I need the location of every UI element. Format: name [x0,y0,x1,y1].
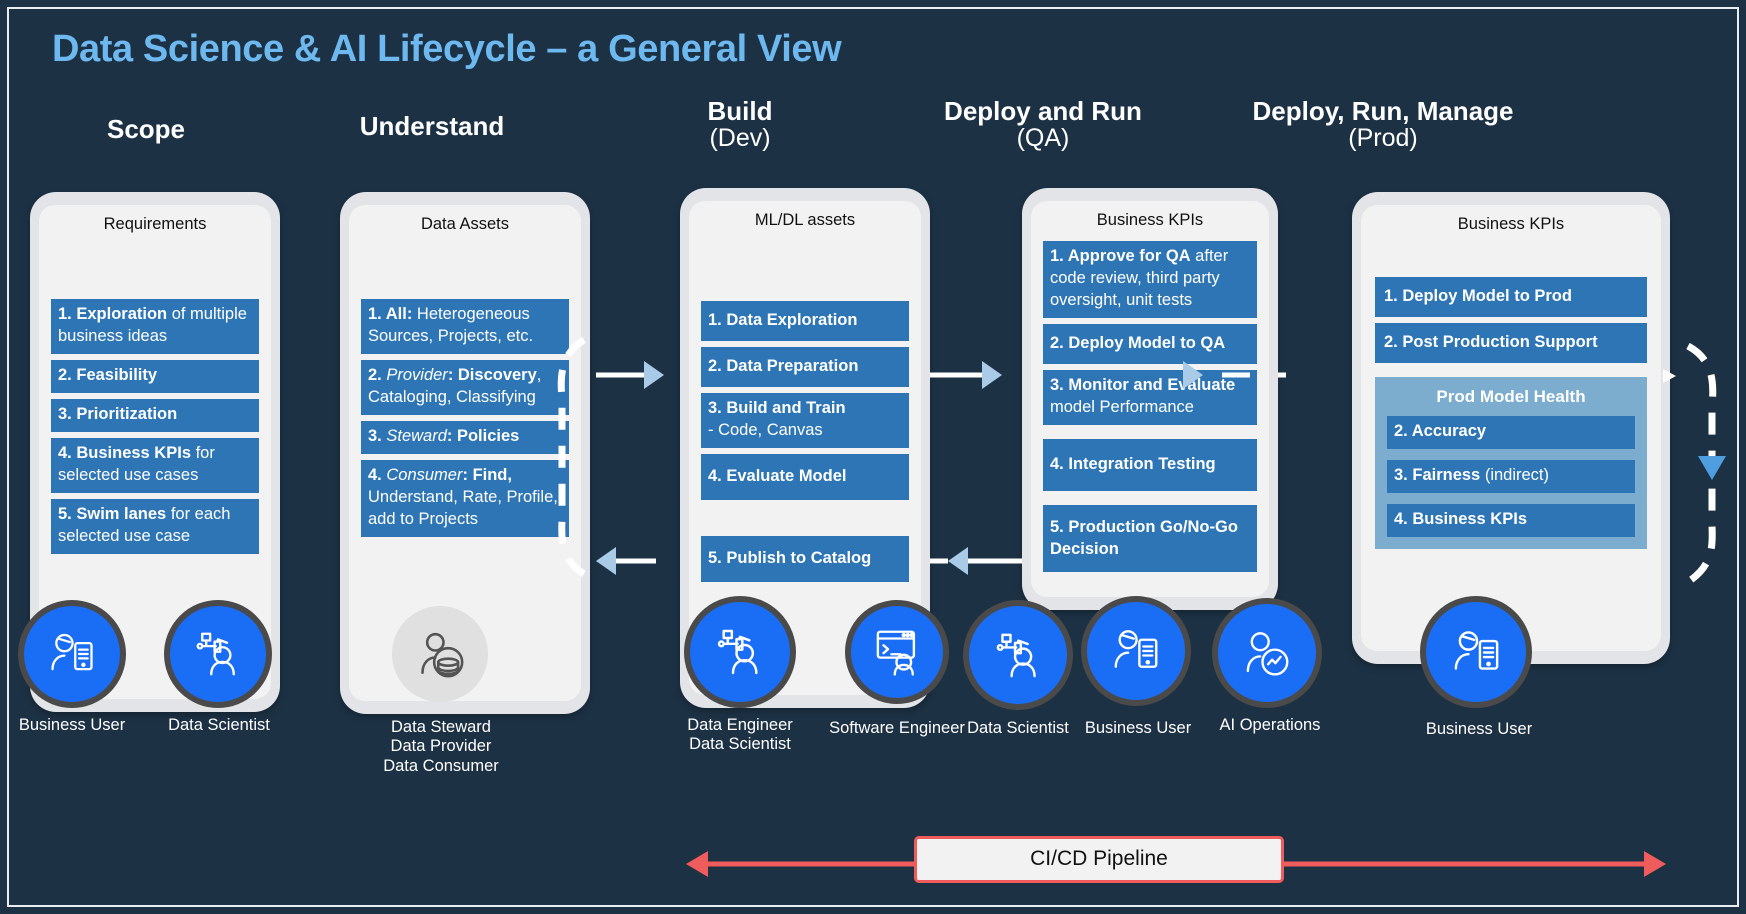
item-list: 1. Data Exploration 2. Data Preparation … [701,301,909,588]
panel-screen: Business KPIs 1. Deploy Model to Prod 2.… [1361,205,1661,651]
connector-line [930,559,948,564]
item-list: 1. Approve for QA after code review, thi… [1043,241,1257,578]
page-title: Data Science & AI Lifecycle – a General … [52,28,841,71]
feedback-loop-prod [1680,340,1732,590]
feedback-loop-understand-build [548,332,598,582]
column-header-build: Build (Dev) [616,98,864,151]
data-steward-icon [412,626,468,682]
column-subheader-label: (Dev) [616,125,864,151]
avatar[interactable] [18,600,126,708]
list-item[interactable]: 1. Exploration of multiple business idea… [51,299,259,354]
list-item[interactable]: 2. Accuracy [1387,416,1635,449]
panel-screen-title: Requirements [39,205,271,233]
role-label: Data Scientist [144,716,294,735]
list-item[interactable]: 1. Deploy Model to Prod [1375,277,1647,317]
list-item[interactable]: 4. Business KPIs [1387,504,1635,537]
data-scientist-icon [712,624,768,680]
panel-screen-title: Business KPIs [1031,201,1269,229]
avatar[interactable] [1420,596,1532,708]
panel-deploy-run-manage-prod: Business KPIs 1. Deploy Model to Prod 2.… [1352,192,1670,664]
column-header-label: Understand [360,111,504,141]
list-item[interactable]: 3. Fairness (indirect) [1387,460,1635,493]
arrow-left-icon [596,547,616,575]
list-item[interactable]: 3. Build and Train - Code, Canvas [701,393,909,448]
connector-build-to-qa [930,360,1022,390]
data-scientist-icon [991,628,1046,683]
avatar[interactable] [392,606,488,702]
role-label: AI Operations [1190,716,1350,735]
column-header-understand: Understand [312,113,552,140]
column-header-deploy-run-manage: Deploy, Run, Manage (Prod) [1210,98,1556,151]
arrow-right-icon [644,361,664,389]
ai-operations-icon [1240,626,1294,680]
avatar[interactable] [845,600,949,704]
connector-line [1222,373,1250,378]
item-list: 1. Deploy Model to Prod 2. Post Producti… [1375,277,1647,549]
list-item[interactable]: 4. Evaluate Model [701,454,909,500]
role-label: Data Engineer Data Scientist [660,716,820,755]
panel-screen-title: Business KPIs [1361,205,1661,233]
column-subheader-label: (QA) [918,125,1168,151]
arrow-left-icon [948,547,968,575]
role-label: Business User [0,716,146,735]
list-item[interactable]: 3. Prioritization [51,399,259,432]
panel-screen-title: Data Assets [349,205,581,233]
connector-understand-to-build [596,360,680,390]
diagram-canvas: Data Science & AI Lifecycle – a General … [0,0,1746,914]
connector-qa-to-prod [1278,360,1352,390]
list-item[interactable]: 4. Consumer: Find, Understand, Rate, Pro… [361,460,569,537]
list-item[interactable]: 5. Swim lanes for each selected use case [51,499,259,554]
business-user-icon [46,628,98,680]
list-item[interactable]: 2. Feasibility [51,360,259,393]
connector-line [596,373,650,378]
business-user-icon [1449,625,1504,680]
list-item[interactable]: 2. Data Preparation [701,347,909,387]
column-header-label: Scope [107,114,185,144]
list-item-subline: - Code, Canvas [708,421,823,439]
list-item[interactable]: 3. Steward: Policies [361,421,569,454]
arrow-right-icon [982,361,1002,389]
panel-screen-title: ML/DL assets [689,201,921,229]
column-header-label: Deploy and Run [944,96,1142,126]
list-item[interactable]: 1. Data Exploration [701,301,909,341]
column-header-label: Build [708,96,773,126]
prod-loop-arrow-head [1663,369,1676,383]
prod-model-health-panel: Prod Model Health 2. Accuracy 3. Fairnes… [1375,377,1647,549]
column-header-scope: Scope [30,116,262,143]
arrow-left-icon [686,851,708,877]
arrow-right-icon [1183,361,1203,389]
connector-qa-to-build-feedback [930,546,1022,576]
column-subheader-label: (Prod) [1210,125,1556,151]
data-scientist-icon [191,627,245,681]
list-item[interactable]: 2. Deploy Model to QA [1043,324,1257,364]
connector-build-to-understand-feedback [596,546,680,576]
cicd-pipeline: CI/CD Pipeline [686,842,1666,886]
list-item[interactable]: 1. All: Heterogeneous Sources, Projects,… [361,299,569,354]
panel-deploy-run-qa: Business KPIs 1. Approve for QA after co… [1022,188,1278,610]
cicd-pipeline-label[interactable]: CI/CD Pipeline [914,836,1284,883]
item-list: 1. Exploration of multiple business idea… [51,299,259,560]
list-item[interactable]: 5. Production Go/No-Go Decision [1043,505,1257,573]
arrow-right-icon [1644,851,1666,877]
connector-line [616,559,656,564]
arrow-down-icon [1698,456,1726,480]
item-list: 1. All: Heterogeneous Sources, Projects,… [361,299,569,543]
column-header-label: Deploy, Run, Manage [1253,96,1514,126]
list-item[interactable]: 2. Post Production Support [1375,323,1647,363]
list-item[interactable]: 4. Integration Testing [1043,439,1257,491]
connector-line [930,373,988,378]
list-item[interactable]: 2. Provider: Discovery, Cataloging, Clas… [361,360,569,415]
avatar[interactable] [164,600,272,708]
avatar[interactable] [1212,598,1322,708]
list-item[interactable]: 4. Business KPIs for selected use cases [51,438,259,493]
role-label: Data Scientist [948,719,1088,738]
avatar[interactable] [1081,596,1191,706]
prod-model-health-title: Prod Model Health [1387,387,1635,407]
list-item[interactable]: 3. Monitor and Evaluate model Performanc… [1043,370,1257,425]
connector-line [1278,373,1286,378]
panel-screen: Business KPIs 1. Approve for QA after co… [1031,201,1269,597]
list-item[interactable]: 5. Publish to Catalog [701,536,909,582]
role-label: Business User [1406,720,1552,739]
list-item[interactable]: 1. Approve for QA after code review, thi… [1043,241,1257,318]
avatar[interactable] [684,596,796,708]
role-label: Data Steward Data Provider Data Consumer [358,718,524,776]
avatar[interactable] [963,600,1073,710]
software-engineer-icon [870,625,924,679]
role-label: Business User [1068,719,1208,738]
connector-line [968,559,1022,564]
business-user-icon [1109,624,1163,678]
column-header-deploy-run: Deploy and Run (QA) [918,98,1168,151]
